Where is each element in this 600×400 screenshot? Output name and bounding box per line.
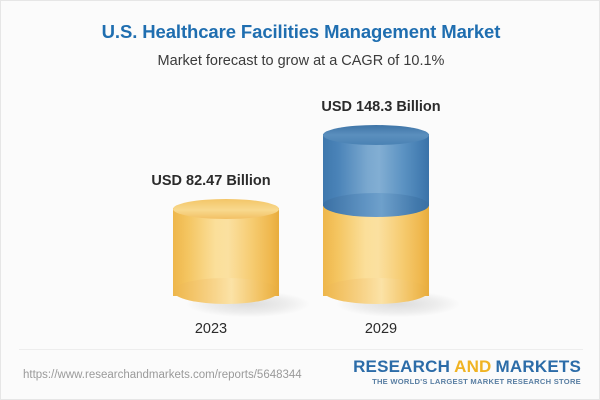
bar-2023-gold-segment [173, 199, 279, 305]
logo-wordmark: RESEARCHANDMARKETS [353, 357, 581, 376]
bar-2029-bottom-ellipse [323, 278, 429, 304]
logo-word-markets: MARKETS [496, 357, 581, 376]
bar-2029-top-ellipse [323, 125, 429, 145]
footer-divider [19, 349, 583, 350]
data-label-2029: USD 148.3 Billion [281, 99, 481, 115]
bar-2023[interactable] [173, 199, 279, 305]
bar-2029-blue-segment [323, 125, 429, 217]
bar-2029-split-ellipse [323, 193, 429, 217]
logo-tagline: THE WORLD'S LARGEST MARKET RESEARCH STOR… [353, 377, 581, 386]
logo-word-research: RESEARCH [353, 357, 450, 376]
chart-plot-area: USD 82.47 Billion USD 148.3 Billion [1, 1, 600, 346]
bar-2029[interactable] [323, 125, 429, 305]
axis-label-2029: 2029 [301, 321, 461, 337]
chart-card: U.S. Healthcare Facilities Management Ma… [0, 0, 600, 400]
axis-label-2023: 2023 [131, 321, 291, 337]
bar-2023-bottom-ellipse [173, 278, 279, 304]
bar-2023-top-ellipse [173, 199, 279, 219]
logo-word-and: AND [454, 357, 491, 376]
data-label-2023: USD 82.47 Billion [111, 173, 311, 189]
report-url[interactable]: https://www.researchandmarkets.com/repor… [23, 369, 302, 381]
research-and-markets-logo[interactable]: RESEARCHANDMARKETS THE WORLD'S LARGEST M… [353, 357, 581, 386]
